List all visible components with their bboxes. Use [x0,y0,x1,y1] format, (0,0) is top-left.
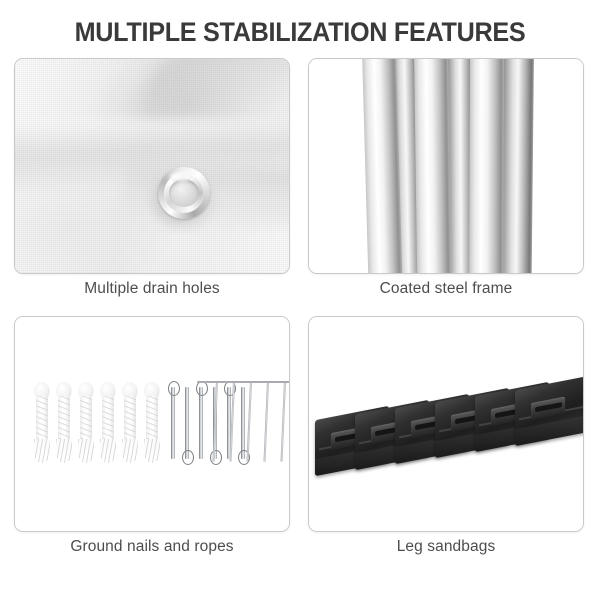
rope-coil [146,396,158,444]
loop-head-stake [181,381,194,465]
feature-caption-steel-frame: Coated steel frame [308,280,584,298]
stake-eyelet [182,450,194,465]
steel-tube [362,58,402,274]
guy-rope [77,383,95,461]
rope-coil [124,396,136,444]
grommet-highlight [170,172,192,181]
rope-tail [100,439,116,463]
feature-caption-nails-ropes: Ground nails and ropes [14,538,290,556]
rope-coil [58,396,70,444]
feature-panel-nails-ropes [14,316,290,532]
steel-tube [469,58,504,274]
stake-eyelet [168,381,180,396]
feature-caption-leg-sandbags: Leg sandbags [308,538,584,556]
sandbag-group [309,317,583,531]
loop-head-stake [167,381,180,465]
page-title: MULTIPLE STABILIZATION FEATURES [15,17,585,48]
feature-grid: Multiple drain holes Coated steel frame … [14,58,586,566]
fabric-weave-texture [15,59,289,273]
feature-caption-drain-holes: Multiple drain holes [14,280,290,298]
guy-rope [99,383,117,461]
feature-panel-leg-sandbags [308,316,584,532]
guy-rope [55,383,73,461]
product-feature-image: MULTIPLE STABILIZATION FEATURES Multiple… [0,0,600,600]
grommet-inner-hole [169,179,199,207]
rope-tail [122,439,138,463]
rope-coil [80,396,92,444]
nail-hook-head [282,381,290,383]
sandbag-handle-slot [535,402,562,412]
feature-cell-leg-sandbags: Leg sandbags [308,316,586,566]
stake-shaft [185,387,189,459]
feature-cell-drain-holes: Multiple drain holes [14,58,292,308]
guy-rope [33,383,51,461]
feature-cell-nails-ropes: Ground nails and ropes [14,316,292,566]
guy-rope [121,383,139,461]
rope-tail [56,439,72,463]
rope-coil [36,396,48,444]
stake-kit-group [15,317,289,531]
rope-tail [78,439,94,463]
guy-rope [143,383,161,461]
rope-tail [144,439,160,463]
feature-panel-steel-frame [308,58,584,274]
steel-tube [414,58,451,274]
rope-coil [102,396,114,444]
feature-panel-drain-holes [14,58,290,274]
rope-tail [34,439,50,463]
grommet-drain-hole [158,167,210,219]
stake-shaft [171,387,175,459]
steel-tube-group [362,58,534,274]
feature-cell-steel-frame: Coated steel frame [308,58,586,308]
ground-nail [282,381,290,465]
